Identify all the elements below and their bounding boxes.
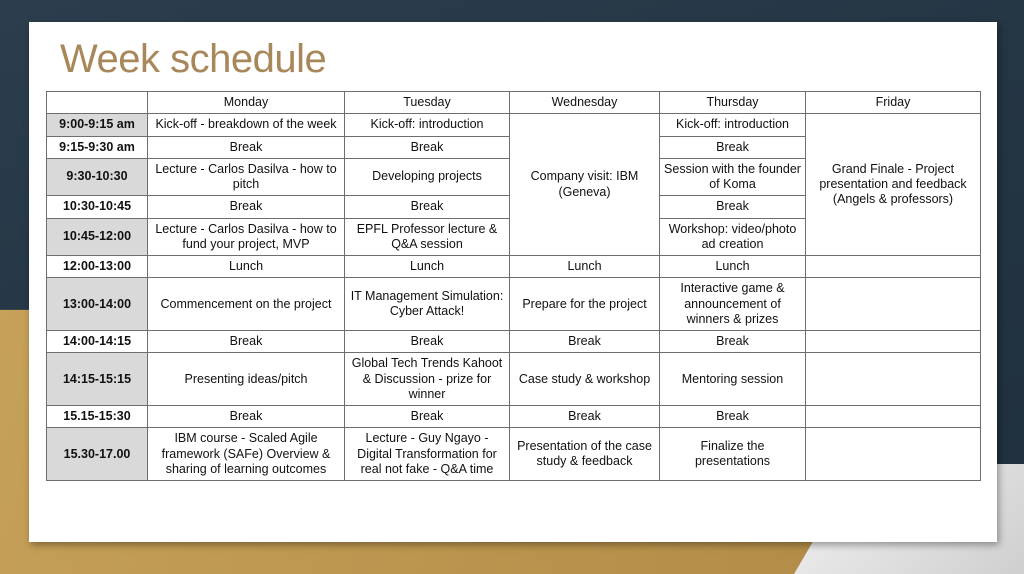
schedule-cell-thursday: Mentoring session <box>660 353 806 406</box>
column-header-wednesday: Wednesday <box>510 92 660 114</box>
schedule-cell-tuesday: Break <box>345 136 510 158</box>
schedule-cell-monday: Presenting ideas/pitch <box>148 353 345 406</box>
time-slot-label: 10:45-12:00 <box>47 218 148 256</box>
schedule-cell-tuesday: Break <box>345 196 510 218</box>
time-slot-label: 15.30-17.00 <box>47 428 148 481</box>
schedule-cell-wednesday: Break <box>510 331 660 353</box>
schedule-cell-thursday: Break <box>660 196 806 218</box>
time-slot-label: 14:15-15:15 <box>47 353 148 406</box>
schedule-cell-wednesday: Break <box>510 406 660 428</box>
schedule-table-container: Monday Tuesday Wednesday Thursday Friday… <box>29 80 997 481</box>
schedule-cell-thursday: Break <box>660 136 806 158</box>
time-slot-label: 13:00-14:00 <box>47 278 148 331</box>
schedule-cell-wednesday: Company visit: IBM (Geneva) <box>510 114 660 256</box>
schedule-cell-friday: Grand Finale - Project presentation and … <box>806 114 981 256</box>
schedule-cell-monday: IBM course - Scaled Agile framework (SAF… <box>148 428 345 481</box>
schedule-cell-wednesday: Presentation of the case study & feedbac… <box>510 428 660 481</box>
schedule-cell-friday <box>806 428 981 481</box>
column-header-tuesday: Tuesday <box>345 92 510 114</box>
schedule-cell-friday <box>806 256 981 278</box>
schedule-cell-tuesday: Developing projects <box>345 158 510 196</box>
time-slot-label: 9:00-9:15 am <box>47 114 148 136</box>
schedule-cell-monday: Lecture - Carlos Dasilva - how to pitch <box>148 158 345 196</box>
schedule-cell-tuesday: Lunch <box>345 256 510 278</box>
time-slot-label: 9:30-10:30 <box>47 158 148 196</box>
schedule-cell-thursday: Lunch <box>660 256 806 278</box>
table-body: 9:00-9:15 amKick-off - breakdown of the … <box>47 114 981 481</box>
schedule-cell-thursday: Kick-off: introduction <box>660 114 806 136</box>
schedule-cell-tuesday: Global Tech Trends Kahoot & Discussion -… <box>345 353 510 406</box>
column-header-friday: Friday <box>806 92 981 114</box>
table-row: 13:00-14:00Commencement on the projectIT… <box>47 278 981 331</box>
table-row: 14:15-15:15Presenting ideas/pitchGlobal … <box>47 353 981 406</box>
schedule-cell-tuesday: Kick-off: introduction <box>345 114 510 136</box>
schedule-cell-tuesday: Lecture - Guy Ngayo - Digital Transforma… <box>345 428 510 481</box>
schedule-cell-friday <box>806 353 981 406</box>
schedule-cell-monday: Kick-off - breakdown of the week <box>148 114 345 136</box>
page-title: Week schedule <box>29 22 997 80</box>
schedule-cell-thursday: Break <box>660 406 806 428</box>
corner-header-cell <box>47 92 148 114</box>
schedule-cell-tuesday: IT Management Simulation: Cyber Attack! <box>345 278 510 331</box>
slide-canvas: Week schedule Monday Tuesday Wednesday T… <box>0 0 1024 574</box>
slide-content-card: Week schedule Monday Tuesday Wednesday T… <box>29 22 997 542</box>
schedule-cell-wednesday: Lunch <box>510 256 660 278</box>
time-slot-label: 15.15-15:30 <box>47 406 148 428</box>
table-header: Monday Tuesday Wednesday Thursday Friday <box>47 92 981 114</box>
schedule-cell-wednesday: Case study & workshop <box>510 353 660 406</box>
schedule-cell-thursday: Break <box>660 331 806 353</box>
column-header-thursday: Thursday <box>660 92 806 114</box>
time-slot-label: 14:00-14:15 <box>47 331 148 353</box>
schedule-cell-monday: Lunch <box>148 256 345 278</box>
table-row: 14:00-14:15BreakBreakBreakBreak <box>47 331 981 353</box>
schedule-cell-monday: Lecture - Carlos Dasilva - how to fund y… <box>148 218 345 256</box>
schedule-cell-monday: Break <box>148 196 345 218</box>
column-header-monday: Monday <box>148 92 345 114</box>
schedule-cell-monday: Commencement on the project <box>148 278 345 331</box>
week-schedule-table: Monday Tuesday Wednesday Thursday Friday… <box>46 91 981 481</box>
schedule-cell-tuesday: Break <box>345 331 510 353</box>
time-slot-label: 10:30-10:45 <box>47 196 148 218</box>
schedule-cell-thursday: Workshop: video/photo ad creation <box>660 218 806 256</box>
schedule-cell-thursday: Finalize the presentations <box>660 428 806 481</box>
time-slot-label: 9:15-9:30 am <box>47 136 148 158</box>
table-row: 9:00-9:15 amKick-off - breakdown of the … <box>47 114 981 136</box>
schedule-cell-monday: Break <box>148 406 345 428</box>
schedule-cell-tuesday: Break <box>345 406 510 428</box>
schedule-cell-friday <box>806 331 981 353</box>
table-row: 15.15-15:30BreakBreakBreakBreak <box>47 406 981 428</box>
schedule-cell-thursday: Session with the founder of Koma <box>660 158 806 196</box>
schedule-cell-friday <box>806 406 981 428</box>
schedule-cell-monday: Break <box>148 136 345 158</box>
table-row: 15.30-17.00IBM course - Scaled Agile fra… <box>47 428 981 481</box>
schedule-cell-friday <box>806 278 981 331</box>
schedule-cell-monday: Break <box>148 331 345 353</box>
schedule-cell-tuesday: EPFL Professor lecture & Q&A session <box>345 218 510 256</box>
header-row: Monday Tuesday Wednesday Thursday Friday <box>47 92 981 114</box>
schedule-cell-wednesday: Prepare for the project <box>510 278 660 331</box>
table-row: 12:00-13:00LunchLunchLunchLunch <box>47 256 981 278</box>
schedule-cell-thursday: Interactive game & announcement of winne… <box>660 278 806 331</box>
time-slot-label: 12:00-13:00 <box>47 256 148 278</box>
